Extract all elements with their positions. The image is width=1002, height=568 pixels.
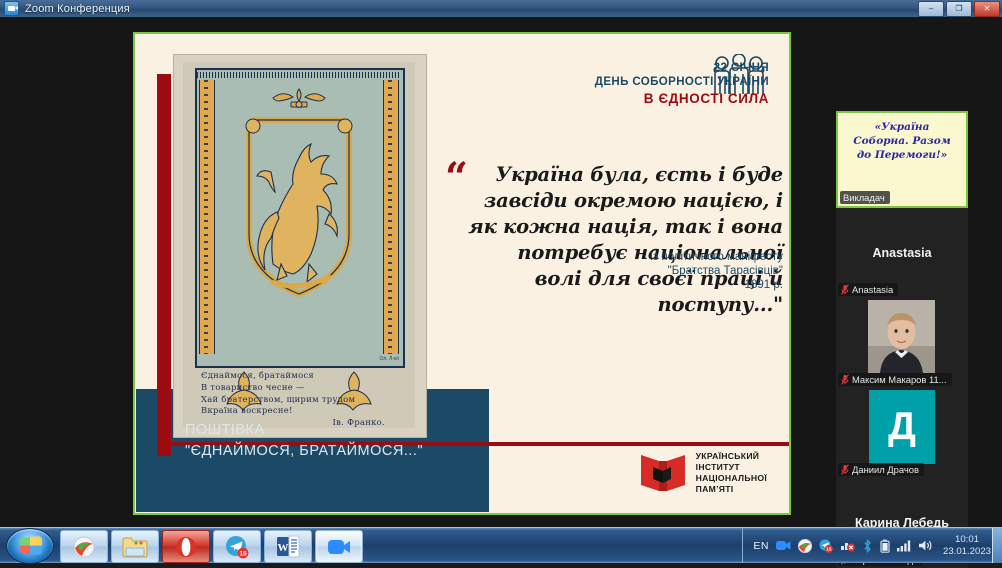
svg-text:15: 15 xyxy=(239,550,247,557)
battery-icon[interactable] xyxy=(880,539,890,553)
window-title-bar: Zoom Конференция – ❐ ✕ xyxy=(0,0,1002,18)
telegram-tray-icon[interactable]: 15 xyxy=(819,539,833,553)
participant-name: Anastasia xyxy=(852,284,893,295)
start-button[interactable] xyxy=(2,529,56,561)
participant-tile-daniil[interactable]: Д Даниил Драчов xyxy=(836,388,968,478)
caption-line-1: ПОШТІВКА xyxy=(185,420,423,441)
taskbar-clock[interactable]: 10:01 23.01.2023 xyxy=(940,534,994,558)
avatar: Д xyxy=(869,390,935,464)
participant-name: Викладач xyxy=(843,192,885,203)
opera-icon xyxy=(175,536,197,558)
taskbar-zoom-icon[interactable] xyxy=(315,530,363,563)
window-controls: – ❐ ✕ xyxy=(918,1,1000,17)
uinp-book-icon xyxy=(639,451,687,495)
postcard-hatching xyxy=(197,72,399,78)
caption-line-2: "ЄДНАЙМОСЯ, БРАТАЙМОСЯ..." xyxy=(185,441,423,462)
system-tray: EN 15 xyxy=(742,528,1002,563)
verse-line-1: Єднаймося, братаймося xyxy=(201,370,399,382)
logo-line-4: ПАМ’ЯТІ xyxy=(696,484,767,495)
taskbar-browser-icon[interactable] xyxy=(60,530,108,563)
postcard-inner: Ол. Л-кó Єднаймося, братаймося В товарис… xyxy=(183,62,415,428)
verse-line-3: Хай братерством, щирим трудом xyxy=(201,394,399,406)
header-date: 22 СІЧНЯ xyxy=(595,62,769,74)
slide-red-vertical-bar xyxy=(157,74,171,456)
taskbar-opera-icon[interactable] xyxy=(162,530,210,563)
minimize-icon: – xyxy=(929,5,933,13)
quote-text: Україна була, єсть і буде завсіди окремо… xyxy=(465,162,783,318)
participant-name-badge: Викладач xyxy=(840,191,890,204)
taskbar-telegram-icon[interactable]: 15 xyxy=(213,530,261,563)
header-title: ДЕНЬ СОБОРНОСТІ УКРАЇНИ xyxy=(595,76,769,88)
postcard-image: Ол. Л-кó Єднаймося, братаймося В товарис… xyxy=(173,54,427,438)
shared-screen[interactable]: Ол. Л-кó Єднаймося, братаймося В товарис… xyxy=(133,32,791,515)
network-error-icon[interactable] xyxy=(840,539,855,552)
muted-mic-icon xyxy=(841,284,849,295)
clock-date: 23.01.2023 xyxy=(940,546,994,558)
opera-tray-icon[interactable] xyxy=(798,539,812,553)
logo-line-3: НАЦІОНАЛЬНОЇ xyxy=(696,473,767,484)
zoom-tray-icon[interactable] xyxy=(776,539,791,552)
verse-line-2: В товариство чесне — xyxy=(201,382,399,394)
zoom-video-icon xyxy=(4,1,19,16)
attribution-line-2: "Братства Тарасівців" xyxy=(463,264,783,278)
show-desktop-button[interactable] xyxy=(992,528,1002,563)
muted-mic-icon xyxy=(841,464,849,475)
uinp-logo-text: УКРАЇНСЬКИЙ ІНСТИТУТ НАЦІОНАЛЬНОЇ ПАМ’ЯТ… xyxy=(696,451,767,495)
participant-tile-anastasia[interactable]: Anastasia Anastasia xyxy=(836,208,968,298)
taskbar-items: 15 W xyxy=(60,530,363,563)
participant-video-thumbnail xyxy=(868,300,935,373)
logo-line-1: УКРАЇНСЬКИЙ xyxy=(696,451,767,462)
zoom-meeting-window: Zoom Конференция – ❐ ✕ xyxy=(0,0,1002,562)
bluetooth-icon[interactable] xyxy=(862,539,873,553)
zoom-icon xyxy=(326,537,352,557)
attribution-line-3: 1891 р. xyxy=(463,278,783,292)
participant-name-badge: Даниил Драчов xyxy=(838,463,924,476)
slide-caption: ПОШТІВКА "ЄДНАЙМОСЯ, БРАТАЙМОСЯ..." xyxy=(185,420,423,462)
lion-coat-of-arms-icon xyxy=(241,114,357,300)
svg-text:15: 15 xyxy=(826,546,832,552)
muted-mic-icon xyxy=(841,374,849,385)
participant-tile-teacher[interactable]: «Україна Соборна. Разом до Перемоги!» Ви… xyxy=(836,111,968,208)
signal-icon[interactable] xyxy=(897,539,911,552)
clock-time: 10:01 xyxy=(940,534,994,546)
tile-title-line-2: Соборна. Разом xyxy=(853,135,950,147)
word-icon: W xyxy=(276,535,300,558)
tile-title-line-1: «Україна xyxy=(875,121,930,133)
uinp-logo: УКРАЇНСЬКИЙ ІНСТИТУТ НАЦІОНАЛЬНОЇ ПАМ’ЯТ… xyxy=(639,451,767,495)
attribution-line-1: Із політичного маніфесту xyxy=(463,250,783,264)
close-button[interactable]: ✕ xyxy=(974,1,1000,17)
participants-filmstrip[interactable]: «Україна Соборна. Разом до Перемоги!» Ви… xyxy=(836,111,968,471)
windows-flag-icon xyxy=(20,536,42,555)
header-slogan: В ЄДНОСТІ СИЛА xyxy=(595,91,769,106)
logo-line-2: ІНСТИТУТ xyxy=(696,462,767,473)
participant-name-badge: Максим Макаров 11... xyxy=(838,373,952,386)
postcard-artist-mark: Ол. Л-кó xyxy=(380,356,399,362)
verse-line-4: Вкраїна воскресне! xyxy=(201,405,399,417)
participant-tile-maksym[interactable]: Максим Макаров 11... xyxy=(836,298,968,388)
restore-button[interactable]: ❐ xyxy=(946,1,972,17)
browser-icon xyxy=(72,535,96,559)
telegram-icon: 15 xyxy=(225,535,249,559)
svg-text:W: W xyxy=(278,542,289,554)
postcard-right-band xyxy=(383,80,399,354)
tile-shared-title: «Україна Соборна. Разом до Перемоги!» xyxy=(846,120,958,162)
restore-icon: ❐ xyxy=(955,5,962,13)
window-title: Zoom Конференция xyxy=(25,3,130,15)
crown-ornament-icon xyxy=(269,88,329,114)
participant-name-badge: Anastasia xyxy=(838,283,898,296)
language-indicator[interactable]: EN xyxy=(753,540,769,552)
volume-icon[interactable] xyxy=(918,539,933,552)
close-icon: ✕ xyxy=(984,5,991,13)
tile-title-line-3: до Перемоги!» xyxy=(857,149,947,161)
windows-start-orb-icon xyxy=(6,528,54,564)
taskbar-word-icon[interactable]: W xyxy=(264,530,312,563)
minimize-button[interactable]: – xyxy=(918,1,944,17)
participant-center-name: Anastasia xyxy=(836,246,968,260)
quote-attribution: Із політичного маніфесту "Братства Тарас… xyxy=(463,250,783,292)
file-explorer-icon xyxy=(122,536,148,558)
meeting-stage: Ол. Л-кó Єднаймося, братаймося В товарис… xyxy=(0,17,1002,527)
participant-name: Даниил Драчов xyxy=(852,464,919,475)
taskbar-file-explorer-icon[interactable] xyxy=(111,530,159,563)
participant-name: Максим Макаров 11... xyxy=(852,374,947,385)
slide-header: 22 СІЧНЯ ДЕНЬ СОБОРНОСТІ УКРАЇНИ В ЄДНОС… xyxy=(595,62,769,106)
windows-taskbar: 15 W EN xyxy=(0,527,1002,563)
presentation-slide: Ол. Л-кó Єднаймося, братаймося В товарис… xyxy=(135,34,789,513)
postcard-left-band xyxy=(199,80,215,354)
